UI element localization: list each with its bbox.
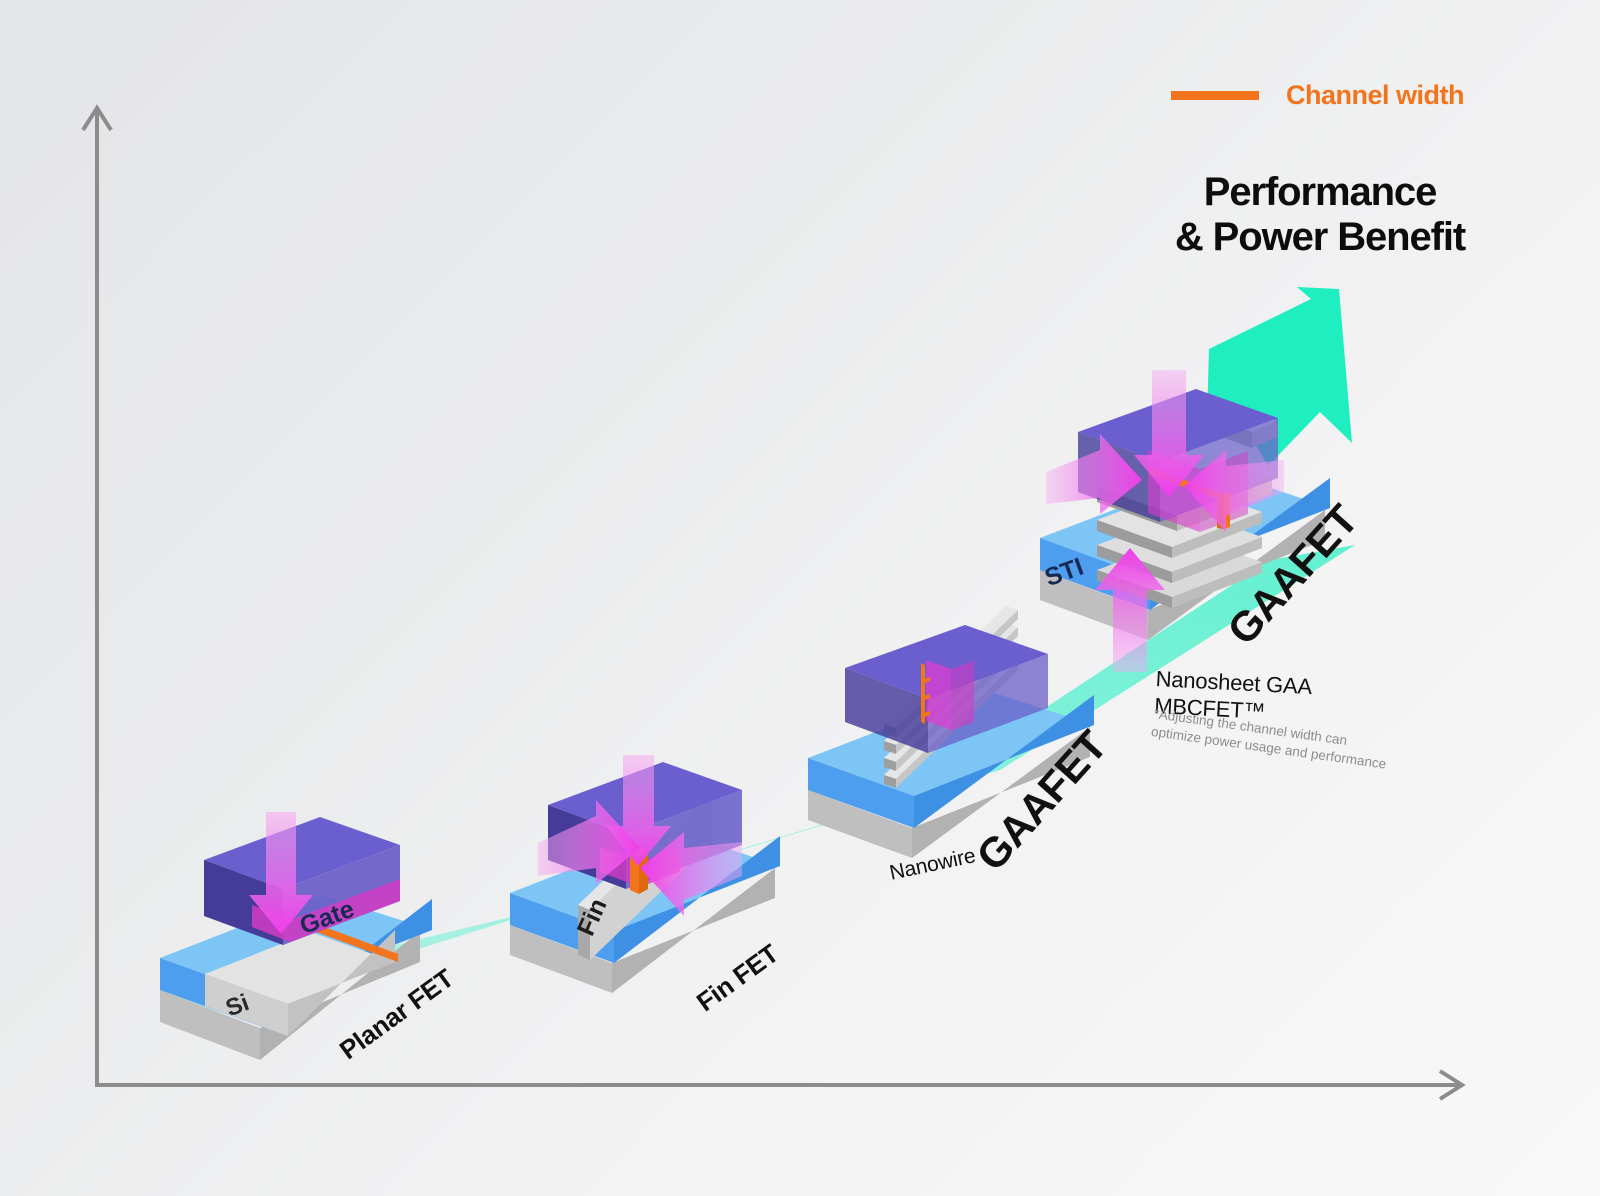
headline-line-1: Performance	[1140, 170, 1500, 215]
diagram-canvas: Gate Si Planar FET	[0, 0, 1600, 1196]
channel-width-legend-swatch	[1171, 91, 1259, 100]
channel-width-legend-label: Channel width	[1286, 80, 1464, 111]
page-title: Performance & Power Benefit	[1140, 170, 1500, 260]
headline-line-2: & Power Benefit	[1140, 215, 1500, 260]
